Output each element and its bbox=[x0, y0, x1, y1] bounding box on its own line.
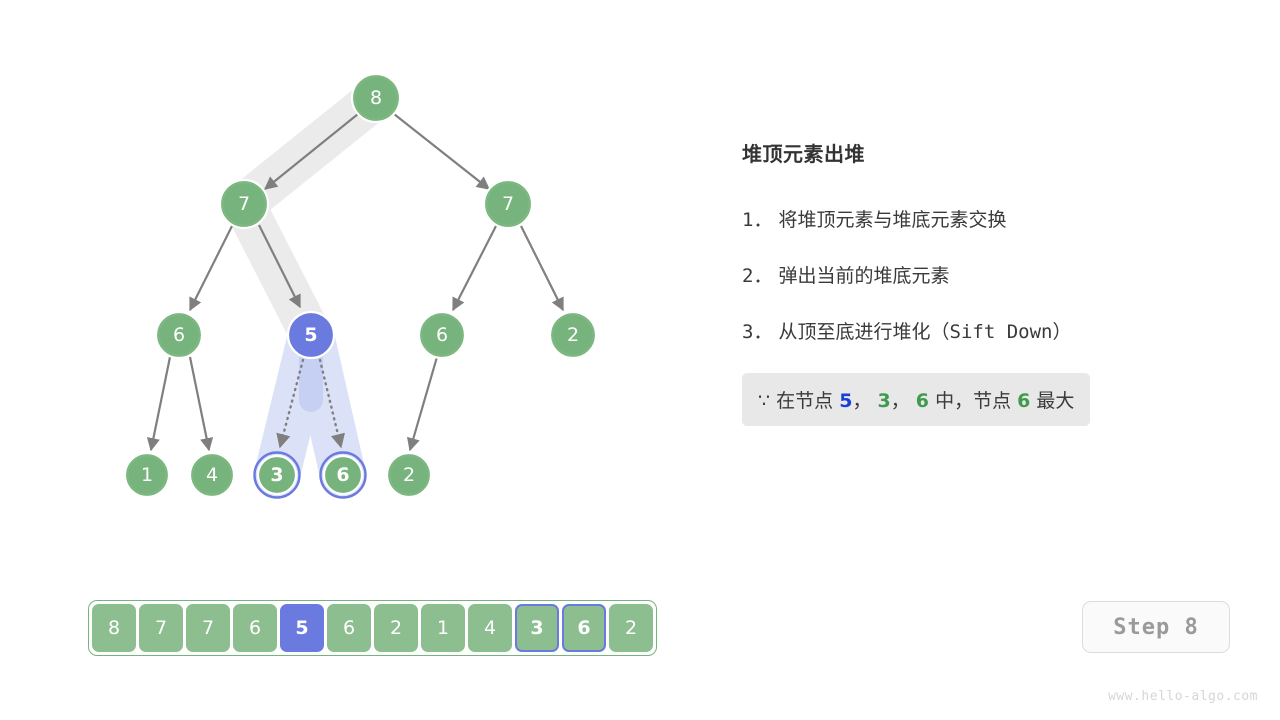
tree-edges bbox=[151, 114, 563, 450]
tree-node-6-left-label: 6 bbox=[173, 324, 185, 346]
step-item-3-text: 从顶至底进行堆化（Sift Down） bbox=[779, 321, 1072, 343]
conclusion-node-c: 6 bbox=[916, 390, 929, 412]
tree-nodes: 8 7 7 6 5 bbox=[125, 74, 596, 498]
tree-node-5-label: 5 bbox=[304, 324, 317, 346]
array-cell[interactable]: 7 bbox=[139, 604, 183, 652]
conclusion-prefix: 在节点 bbox=[776, 390, 833, 412]
explanation-panel: 堆顶元素出堆 1． 将堆顶元素与堆底元素交换 2． 弹出当前的堆底元素 3． 从… bbox=[742, 138, 1212, 426]
tree-node-4-label: 4 bbox=[206, 464, 218, 486]
tree-node-1-label: 1 bbox=[141, 464, 153, 486]
tree-node-6-child-label: 6 bbox=[336, 464, 349, 486]
step-item-3-index: 3． bbox=[742, 321, 772, 343]
tree-node-8[interactable]: 8 bbox=[352, 74, 400, 122]
heap-diagram-panel: 8 7 7 6 5 bbox=[0, 0, 700, 720]
binary-heap-tree: 8 7 7 6 5 bbox=[0, 0, 700, 560]
tree-node-1[interactable]: 1 bbox=[125, 453, 169, 497]
conclusion-node-b: 3 bbox=[878, 390, 891, 412]
tree-node-6-mid[interactable]: 6 bbox=[419, 312, 465, 358]
tree-node-7-right[interactable]: 7 bbox=[484, 180, 532, 228]
edge-7R-6 bbox=[453, 226, 496, 310]
conclusion-node-a: 5 bbox=[839, 390, 852, 412]
edge-7L-6 bbox=[190, 226, 232, 310]
edge-6-1 bbox=[151, 357, 170, 450]
tree-node-2-leaf[interactable]: 2 bbox=[387, 453, 431, 497]
tree-node-2-right-label: 2 bbox=[567, 324, 579, 346]
edge-6-4 bbox=[190, 357, 209, 450]
therefore-icon: ∵ bbox=[758, 390, 770, 412]
conclusion-node-max: 6 bbox=[1017, 390, 1030, 412]
array-cell-child-right[interactable]: 6 bbox=[562, 604, 606, 652]
array-cell[interactable]: 2 bbox=[374, 604, 418, 652]
array-cell[interactable]: 4 bbox=[468, 604, 512, 652]
step-item-1-text: 将堆顶元素与堆底元素交换 bbox=[779, 209, 1007, 231]
tree-node-6-child[interactable]: 6 bbox=[321, 453, 366, 498]
tree-node-5-current[interactable]: 5 bbox=[288, 312, 334, 358]
step-item-1-index: 1． bbox=[742, 209, 772, 231]
tree-node-7-left[interactable]: 7 bbox=[220, 180, 268, 228]
step-item-2-index: 2． bbox=[742, 265, 772, 287]
step-item-2: 2． 弹出当前的堆底元素 bbox=[742, 261, 1212, 288]
tree-node-2-leaf-label: 2 bbox=[403, 464, 415, 486]
edge-6R-2 bbox=[410, 357, 437, 450]
tree-node-8-label: 8 bbox=[370, 87, 382, 109]
tree-node-4[interactable]: 4 bbox=[190, 453, 234, 497]
tree-node-3-label: 3 bbox=[270, 464, 283, 486]
heap-array-strip: 8 7 7 6 5 6 2 1 4 3 6 2 bbox=[88, 600, 657, 656]
conclusion-sep-1: ， bbox=[852, 390, 871, 412]
array-cell[interactable]: 6 bbox=[327, 604, 371, 652]
tree-node-3-child[interactable]: 3 bbox=[255, 453, 300, 498]
tree-node-2-right[interactable]: 2 bbox=[550, 312, 596, 358]
edge-8-7R bbox=[394, 114, 489, 189]
array-cell[interactable]: 2 bbox=[609, 604, 653, 652]
page-title: 堆顶元素出堆 bbox=[742, 138, 1212, 167]
array-cell[interactable]: 8 bbox=[92, 604, 136, 652]
array-cell[interactable]: 6 bbox=[233, 604, 277, 652]
step-item-2-text: 弹出当前的堆底元素 bbox=[779, 265, 950, 287]
tree-node-6-left[interactable]: 6 bbox=[156, 312, 202, 358]
watermark: www.hello-algo.com bbox=[1108, 689, 1258, 704]
edge-7R-2 bbox=[521, 226, 563, 310]
tree-node-7-right-label: 7 bbox=[502, 193, 514, 215]
step-item-1: 1． 将堆顶元素与堆底元素交换 bbox=[742, 205, 1212, 232]
array-cell[interactable]: 1 bbox=[421, 604, 465, 652]
step-badge[interactable]: Step 8 bbox=[1082, 601, 1230, 653]
step-item-3: 3． 从顶至底进行堆化（Sift Down） bbox=[742, 317, 1212, 344]
conclusion-sep-2: ， bbox=[891, 390, 910, 412]
conclusion-note: ∵ 在节点 5， 3， 6 中，节点 6 最大 bbox=[742, 373, 1090, 426]
tree-node-6-mid-label: 6 bbox=[436, 324, 448, 346]
conclusion-suffix: 最大 bbox=[1036, 390, 1074, 412]
array-cell-current[interactable]: 5 bbox=[280, 604, 324, 652]
array-cell[interactable]: 7 bbox=[186, 604, 230, 652]
conclusion-middle: 中，节点 bbox=[935, 390, 1011, 412]
array-cell-child-left[interactable]: 3 bbox=[515, 604, 559, 652]
tree-node-7-left-label: 7 bbox=[238, 193, 250, 215]
